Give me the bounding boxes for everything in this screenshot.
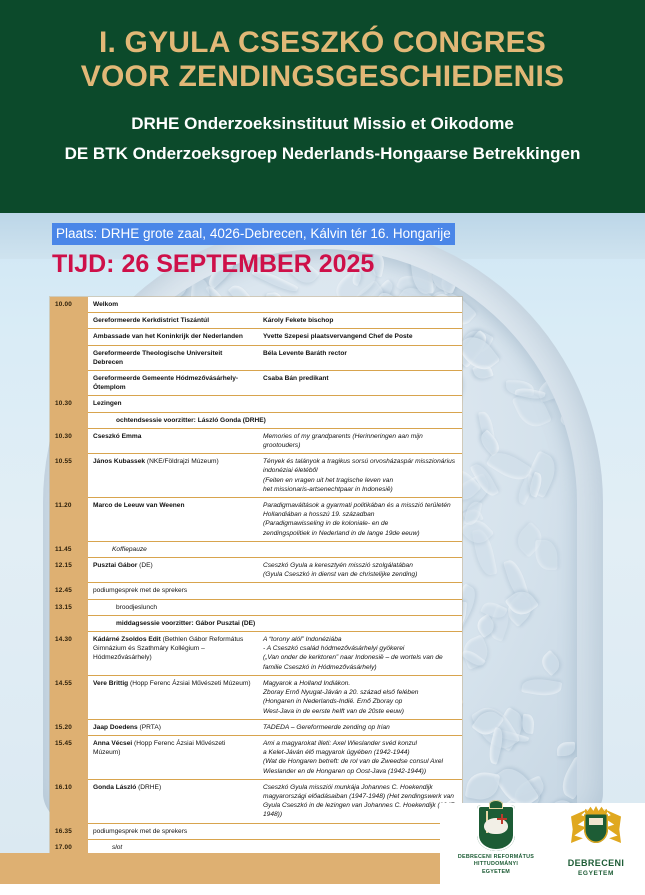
schedule-span-cell: podiumgesprek met de sprekers (88, 583, 462, 599)
table-row: 11.20Marco de Leeuw van WeenenParadigmav… (50, 498, 462, 542)
schedule-table: 10.00WelkomGereformeerde Kerkdistrict Ti… (50, 297, 462, 855)
schedule-speaker-cell: Gereformeerde Theologische Universiteit … (88, 345, 258, 370)
poster-title-line-2: VOOR ZENDINGSGESCHIEDENIS (14, 60, 631, 94)
schedule-span-cell: ochtendsessie voorzitter: László Gonda (… (88, 412, 462, 428)
schedule-time-cell: 15.20 (50, 719, 88, 735)
schedule-time-cell: 10.30 (50, 396, 88, 412)
place-line: Plaats: DRHE grote zaal, 4026-Debrecen, … (52, 223, 455, 245)
poster-subtitle-2: DE BTK Onderzoeksgroep Nederlands-Hongaa… (14, 143, 631, 165)
schedule-speaker-cell: Gereformeerde Gemeente Hódmezővásárhely-… (88, 371, 258, 396)
logo-de-caption-sub: EGYETEM (552, 869, 640, 880)
lamb-shield-icon (477, 805, 515, 851)
schedule-speaker-cell: Gereformeerde Kerkdistrict Tiszántúl (88, 313, 258, 329)
table-row: 14.55Vere Brittig (Hopp Ferenc Ázsiai Mű… (50, 675, 462, 719)
schedule-time-cell (50, 615, 88, 631)
schedule-table-body: 10.00WelkomGereformeerde Kerkdistrict Ti… (50, 297, 462, 855)
schedule-speaker-cell: Pusztai Gábor (DE) (88, 558, 258, 583)
schedule-topic-cell: TADEDA – Gereformeerde zending op Irian (258, 719, 462, 735)
table-row: 10.55János Kubassek (NKE/Földrajzi Múzeu… (50, 454, 462, 498)
schedule-speaker-cell: Marco de Leeuw van Weenen (88, 498, 258, 542)
footer-logos: DEBRECENI REFORMÁTUSHITTUDOMÁNYIEGYETEM … (440, 803, 645, 895)
schedule-speaker-cell: Kádárné Zsoldos Edit (Bethlen Gábor Refo… (88, 632, 258, 676)
schedule-time-cell (50, 412, 88, 428)
schedule-span-cell: Welkom (88, 297, 462, 313)
schedule-span-cell: Lezingen (88, 396, 462, 412)
schedule-time-cell: 16.35 (50, 823, 88, 839)
schedule-time-cell: 11.20 (50, 498, 88, 542)
schedule-topic-cell: Csaba Bán predikant (258, 371, 462, 396)
schedule-speaker-cell: Cseszkó Emma (88, 428, 258, 453)
schedule-speaker-cell: Vere Brittig (Hopp Ferenc Ázsiai Művésze… (88, 675, 258, 719)
schedule-time-cell: 14.55 (50, 675, 88, 719)
logo-de-caption: DEBRECENI EGYETEM (552, 858, 640, 879)
schedule-topic-cell: Károly Fekete bischop (258, 313, 462, 329)
table-row: 14.30Kádárné Zsoldos Edit (Bethlen Gábor… (50, 632, 462, 676)
schedule-speaker-cell: Jaap Doedens (PRTA) (88, 719, 258, 735)
schedule-topic-cell: Cseszkó Gyula a keresztyén misszió szolg… (258, 558, 462, 583)
table-row: 15.20Jaap Doedens (PRTA)TADEDA – Gerefor… (50, 719, 462, 735)
table-row: 10.30Lezingen (50, 396, 462, 412)
schedule-speaker-cell: Ambassade van het Koninkrijk der Nederla… (88, 329, 258, 345)
table-row: middagsessie voorzitter: Gábor Pusztai (… (50, 615, 462, 631)
logo-drhe: DEBRECENI REFORMÁTUSHITTUDOMÁNYIEGYETEM (450, 805, 542, 876)
table-row: 10.30Cseszkó EmmaMemories of my grandpar… (50, 428, 462, 453)
schedule-span-cell: podiumgesprek met de sprekers (88, 823, 462, 839)
schedule-time-cell (50, 329, 88, 345)
schedule-time-cell (50, 313, 88, 329)
date-line: TIJD: 26 SEPTEMBER 2025 (52, 249, 374, 279)
schedule-time-cell: 10.55 (50, 454, 88, 498)
logo-debreceni-egyetem: DEBRECENI EGYETEM (552, 807, 640, 879)
table-row: 11.45Koffiepauze (50, 541, 462, 557)
schedule-topic-cell: Yvette Szepesi plaatsvervangend Chef de … (258, 329, 462, 345)
griffin-shield-icon (571, 807, 621, 855)
schedule-time-cell: 10.00 (50, 297, 88, 313)
table-row: 15.45Anna Vécsei (Hopp Ferenc Ázsiai Műv… (50, 735, 462, 779)
logo-de-caption-main: DEBRECENI (568, 858, 625, 868)
table-row: 16.10Gonda László (DRHE)Cseszkó Gyula mi… (50, 779, 462, 823)
schedule-time-cell: 10.30 (50, 428, 88, 453)
schedule-time-cell: 12.45 (50, 583, 88, 599)
table-row: 13.15broodjeslunch (50, 599, 462, 615)
schedule-span-cell: middagsessie voorzitter: Gábor Pusztai (… (88, 615, 462, 631)
de-shield-icon (584, 813, 608, 843)
schedule-span-cell: broodjeslunch (88, 599, 462, 615)
schedule-span-cell: Koffiepauze (88, 541, 462, 557)
poster-header: I. GYULA CSESZKÓ CONGRES VOOR ZENDINGSGE… (0, 0, 645, 213)
schedule-time-cell (50, 345, 88, 370)
table-row: Ambassade van het Koninkrijk der Nederla… (50, 329, 462, 345)
schedule-time-cell: 11.45 (50, 541, 88, 557)
schedule-topic-cell: Béla Levente Baráth rector (258, 345, 462, 370)
place-line-wrapper: Plaats: DRHE grote zaal, 4026-Debrecen, … (52, 223, 455, 245)
schedule-topic-cell: Magyarok a Holland Indiákon.Zboray Ernő … (258, 675, 462, 719)
schedule-time-cell: 12.15 (50, 558, 88, 583)
table-row: Gereformeerde Gemeente Hódmezővásárhely-… (50, 371, 462, 396)
schedule-time-cell: 16.10 (50, 779, 88, 823)
schedule-time-cell: 13.15 (50, 599, 88, 615)
schedule-table-wrapper: 10.00WelkomGereformeerde Kerkdistrict Ti… (50, 297, 462, 855)
schedule-topic-cell: Memories of my grandparents (Herinnering… (258, 428, 462, 453)
poster-title-line-1: I. GYULA CSESZKÓ CONGRES (14, 26, 631, 60)
table-row: 12.45podiumgesprek met de sprekers (50, 583, 462, 599)
schedule-speaker-cell: Gonda László (DRHE) (88, 779, 258, 823)
conference-poster: I. GYULA CSESZKÓ CONGRES VOOR ZENDINGSGE… (0, 0, 645, 895)
schedule-time-cell (50, 371, 88, 396)
footer-bar (0, 853, 456, 884)
schedule-time-cell: 14.30 (50, 632, 88, 676)
schedule-topic-cell: Tények és talányok a tragikus sorsú orvo… (258, 454, 462, 498)
poster-subtitle-1: DRHE Onderzoeksinstituut Missio et Oikod… (14, 113, 631, 135)
schedule-topic-cell: Cseszkó Gyula missziói munkája Johannes … (258, 779, 462, 823)
schedule-time-cell: 15.45 (50, 735, 88, 779)
schedule-topic-cell: Ami a magyarokat illeti: Axel Wieslander… (258, 735, 462, 779)
table-row: ochtendsessie voorzitter: László Gonda (… (50, 412, 462, 428)
table-row: Gereformeerde Kerkdistrict TiszántúlKáro… (50, 313, 462, 329)
table-row: 12.15Pusztai Gábor (DE)Cseszkó Gyula a k… (50, 558, 462, 583)
lamb-icon (484, 818, 508, 834)
schedule-speaker-cell: Anna Vécsei (Hopp Ferenc Ázsiai Művészet… (88, 735, 258, 779)
table-row: 16.35podiumgesprek met de sprekers (50, 823, 462, 839)
logo-drhe-caption: DEBRECENI REFORMÁTUSHITTUDOMÁNYIEGYETEM (450, 854, 542, 876)
shield-crest-icon (489, 800, 503, 809)
schedule-topic-cell: Paradigmaváltások a gyarmati politikában… (258, 498, 462, 542)
table-row: 10.00Welkom (50, 297, 462, 313)
schedule-speaker-cell: János Kubassek (NKE/Földrajzi Múzeum) (88, 454, 258, 498)
schedule-topic-cell: A “torony alól” Indonéziába - A Cseszkó … (258, 632, 462, 676)
table-row: Gereformeerde Theologische Universiteit … (50, 345, 462, 370)
crown-icon (585, 806, 607, 813)
